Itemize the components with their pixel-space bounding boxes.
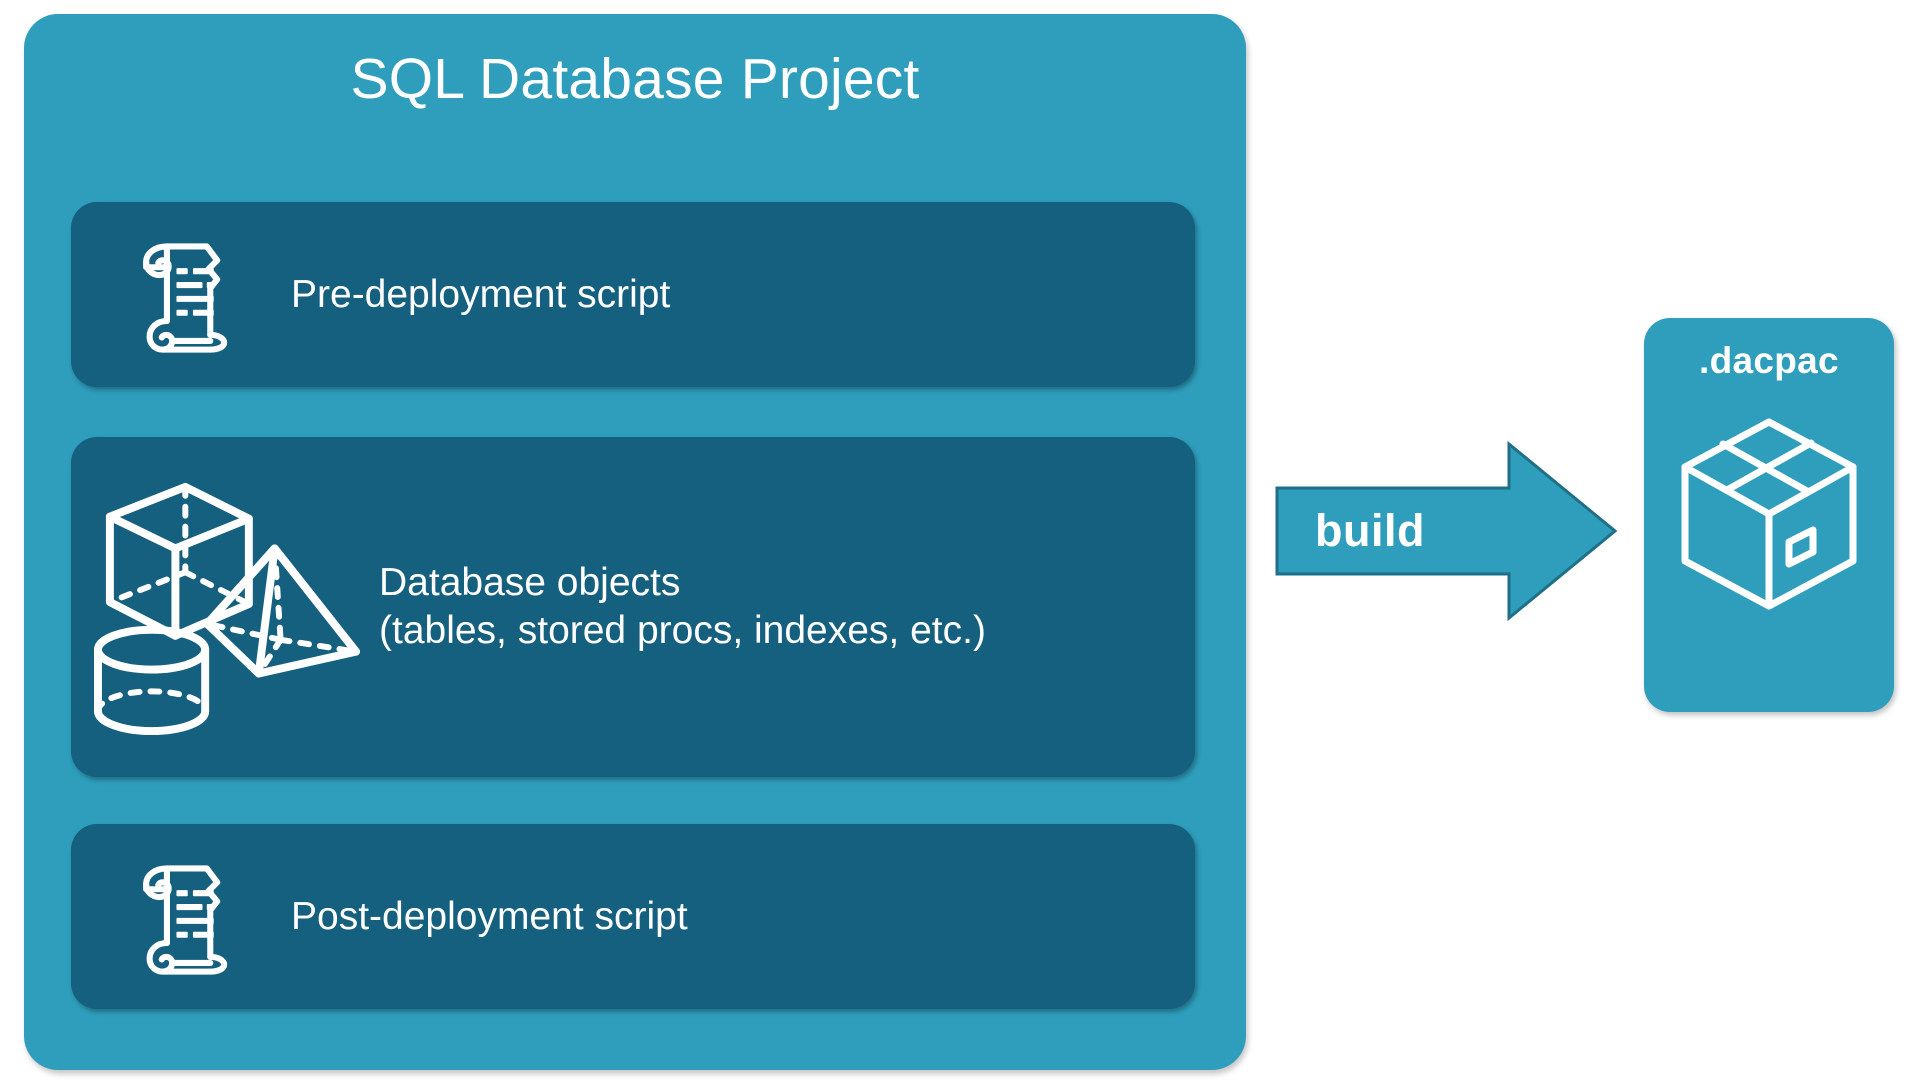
section-label-pre-deployment: Pre-deployment script [291,271,670,319]
package-box-icon [1677,414,1861,614]
section-label-database-objects: Database objects (tables, stored procs, … [379,559,986,654]
scroll-icon [81,234,291,356]
build-arrow: build [1277,441,1617,621]
page-title: SQL Database Project [24,48,1246,111]
scroll-icon [81,856,291,978]
build-arrow-label: build [1315,441,1425,621]
sql-database-project-container: SQL Database Project [24,14,1246,1070]
package-label-shape [1789,530,1813,564]
section-card-post-deployment[interactable]: Post-deployment script [71,824,1195,1009]
section-card-database-objects[interactable]: Database objects (tables, stored procs, … [71,437,1195,777]
section-card-pre-deployment[interactable]: Pre-deployment script [71,202,1195,387]
dacpac-output-card[interactable]: .dacpac [1644,318,1894,712]
diagram-canvas: SQL Database Project [0,0,1920,1080]
dacpac-label: .dacpac [1644,340,1894,382]
section-label-post-deployment: Post-deployment script [291,893,688,941]
3d-shapes-icon [79,473,379,741]
